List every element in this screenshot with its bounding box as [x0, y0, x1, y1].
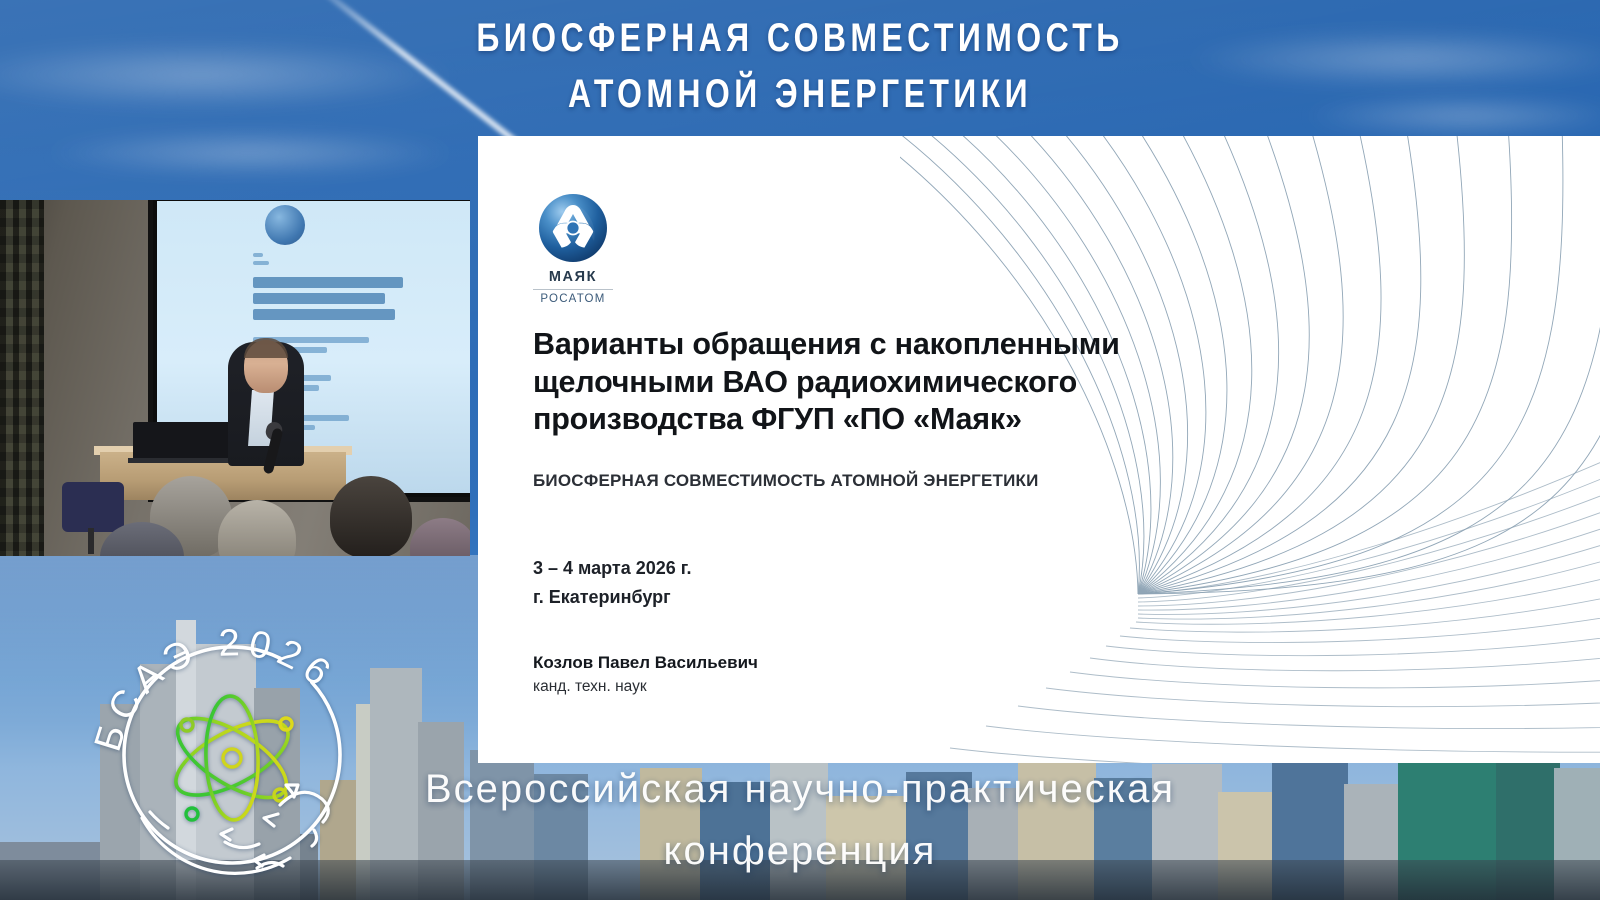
presentation-slide[interactable]: МАЯК РОСАТОМ Варианты обращения с накопл…: [478, 136, 1600, 763]
conference-subtitle: Всероссийская научно-практическая конфер…: [0, 758, 1600, 882]
presentation-stream-view: БИОСФЕРНАЯ СОВМЕСТИМОСТЬ АТОМНОЙ ЭНЕРГЕТ…: [0, 0, 1600, 900]
slide-author: Козлов Павел Васильевич канд. техн. наук: [533, 651, 1053, 698]
slide-conference-name: БИОСФЕРНАЯ СОВМЕСТИМОСТЬ АТОМНОЙ ЭНЕРГЕТ…: [533, 468, 1053, 493]
event-title-line2: АТОМНОЙ ЭНЕРГЕТИКИ: [160, 66, 1440, 122]
logo-divider: [533, 289, 613, 290]
logo-parent-name: РОСАТОМ: [533, 293, 613, 305]
audience-head: [330, 476, 412, 556]
rosatom-atom-icon: [537, 192, 609, 264]
slide-date-location: 3 – 4 марта 2026 г. г. Екатеринбург: [533, 554, 1053, 612]
slide-city: г. Екатеринбург: [533, 583, 1053, 612]
conference-subtitle-line1: Всероссийская научно-практическая: [0, 758, 1600, 820]
author-name: Козлов Павел Васильевич: [533, 651, 1053, 675]
author-degree: канд. техн. наук: [533, 675, 1053, 698]
curtain: [0, 200, 44, 556]
event-title: БИОСФЕРНАЯ СОВМЕСТИМОСТЬ АТОМНОЙ ЭНЕРГЕТ…: [160, 10, 1440, 122]
logo-organization-name: МАЯК: [533, 269, 613, 285]
event-title-line1: БИОСФЕРНАЯ СОВМЕСТИМОСТЬ: [160, 10, 1440, 66]
slide-title: Варианты обращения с накопленными щелочн…: [533, 326, 1143, 439]
mayak-rosatom-logo: МАЯК РОСАТОМ: [533, 192, 629, 305]
slide-date: 3 – 4 марта 2026 г.: [533, 554, 1053, 583]
conference-subtitle-line2: конференция: [0, 820, 1600, 882]
speaker-video-feed[interactable]: [0, 200, 470, 556]
